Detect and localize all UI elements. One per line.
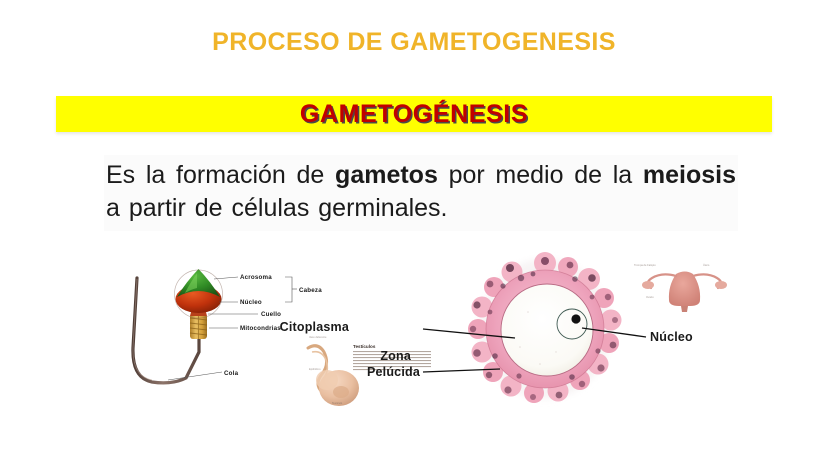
definition-term-meiosis: meiosis xyxy=(643,161,736,189)
svg-text:Testículo: Testículo xyxy=(332,401,343,405)
definition-lead: Es la formación de xyxy=(106,161,335,189)
label-nucleo-ovum: Núcleo xyxy=(650,330,693,344)
banner-heading: GAMETOGÉNESIS xyxy=(56,96,772,132)
definition-mid: por medio de la xyxy=(438,161,643,189)
page-title: PROCESO DE GAMETOGENESIS xyxy=(0,28,828,57)
leader-acrosoma xyxy=(214,277,238,279)
testicle-core xyxy=(333,386,349,398)
label-citoplasma: Citoplasma xyxy=(280,320,350,334)
ovary-left xyxy=(642,281,654,289)
label-acrosoma: Acrosoma xyxy=(240,274,272,281)
ovum-nucleolus xyxy=(571,314,580,323)
ovum-cytoplasm xyxy=(501,284,593,376)
ovary-right xyxy=(715,281,727,289)
label-cuello: Cuello xyxy=(261,311,281,318)
uterus-label-bottom: Ovario xyxy=(646,295,654,299)
label-zona-line2: Pelúcida xyxy=(367,365,421,379)
svg-text:Vaso deferente: Vaso deferente xyxy=(309,335,327,339)
definition-term-gametos: gametos xyxy=(335,161,438,189)
leader-cabeza-bracket xyxy=(285,277,292,302)
label-zona-line1: Zona xyxy=(380,349,412,363)
definition-tail: a partir de células germinales. xyxy=(106,194,448,222)
testicle-heading: Testículos xyxy=(353,344,376,349)
definition-block: Es la formación de gametos por medio de … xyxy=(104,155,738,231)
cervix xyxy=(681,306,688,312)
definition-paragraph: Es la formación de gametos por medio de … xyxy=(106,159,736,225)
label-cabeza: Cabeza xyxy=(299,287,322,294)
label-cola: Cola xyxy=(224,370,239,377)
figure-area: Acrosoma Cabeza Núcleo Cuello Mitocondri… xyxy=(0,252,828,412)
label-nucleo-sperm: Núcleo xyxy=(240,299,262,306)
uterus-label-left: Trompa de Falopio xyxy=(634,263,656,267)
leader-cola xyxy=(168,372,222,380)
label-mitocondrias: Mitocondrias xyxy=(240,325,281,332)
svg-text:Epidídimo: Epidídimo xyxy=(309,367,321,371)
uterus-inset: Trompa de Falopio Útero Ovario xyxy=(626,254,732,312)
testicle-lobe xyxy=(316,370,338,390)
yellow-banner: GAMETOGÉNESIS xyxy=(56,96,772,132)
